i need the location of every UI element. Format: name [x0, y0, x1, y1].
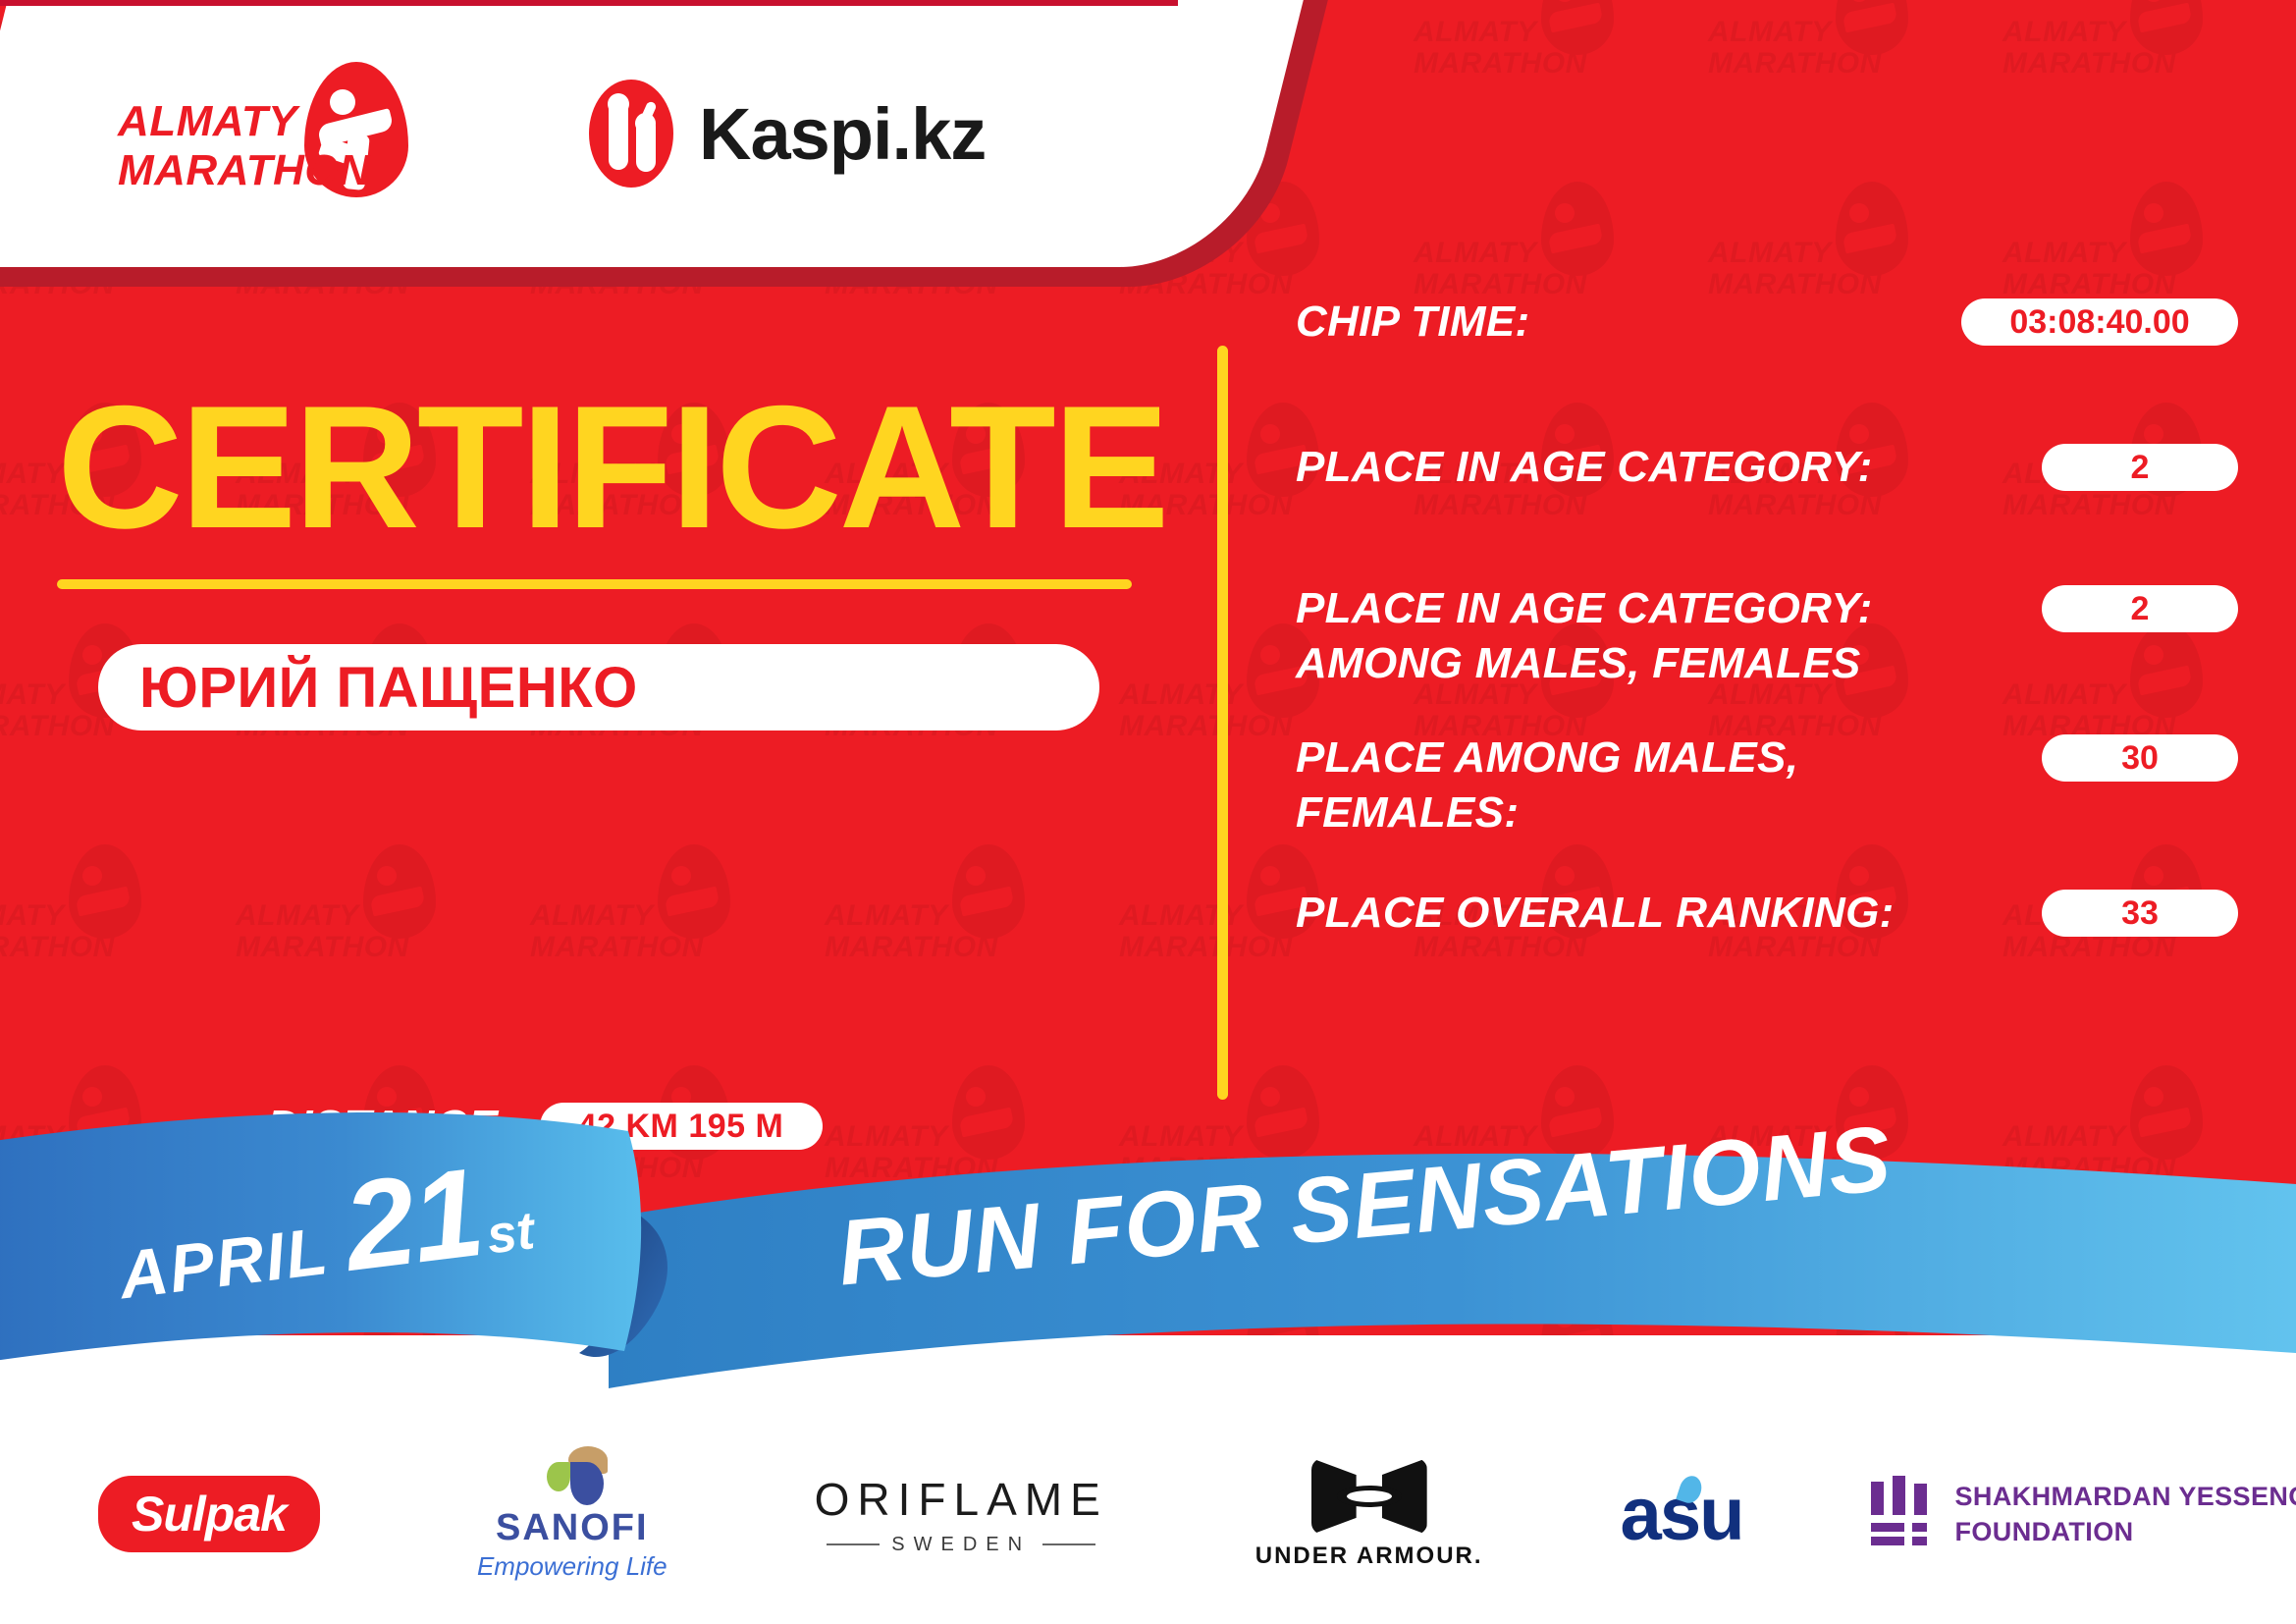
label-line-2: FEMALES: — [1296, 788, 1519, 837]
sanofi-icon — [537, 1446, 608, 1505]
under-armour-wordmark: UNDER ARMOUR. — [1255, 1543, 1483, 1570]
distance-value: 42 KM 195 M — [540, 1103, 823, 1150]
sulpak-wordmark: Sulpak — [98, 1476, 320, 1552]
place-among-gender-row: PLACE AMONG MALES, FEMALES: 30 — [1296, 731, 2238, 840]
watermark-tile: ALMATYMARATHON — [236, 1286, 442, 1335]
place-among-gender-label: PLACE AMONG MALES, FEMALES: — [1296, 731, 2042, 840]
sponsor-logo-sulpak: Sulpak — [98, 1476, 320, 1552]
oriflame-sub: SWEDEN — [827, 1534, 1095, 1556]
watermark-tile: ALMATYMARATHON — [825, 1286, 1031, 1335]
sanofi-tagline: Empowering Life — [477, 1551, 667, 1582]
sponsor-logo-oriflame: ORIFLAME SWEDEN — [815, 1473, 1108, 1556]
kaspi-people-icon — [589, 80, 673, 188]
watermark-tile: ALMATYMARATHON — [1414, 1065, 1620, 1213]
place-overall-row: PLACE OVERALL RANKING: 33 — [1296, 886, 2238, 970]
place-age-category-label: PLACE IN AGE CATEGORY: — [1296, 440, 2042, 495]
watermark-tile: ALMATYMARATHON — [2002, 1286, 2209, 1335]
title-underline — [57, 579, 1132, 589]
sponsor-logo-yessenov-foundation: SHAKHMARDAN YESSENOV FOUNDATION — [1871, 1476, 2296, 1552]
label-line-1: PLACE AMONG MALES, — [1296, 733, 1798, 782]
distance-label: DISTANCE: — [267, 1100, 514, 1153]
chip-time-value: 03:08:40.00 — [1961, 298, 2238, 346]
kaspi-logo: Kaspi.kz — [589, 80, 986, 188]
oriflame-wordmark: ORIFLAME — [815, 1473, 1108, 1526]
vertical-divider — [1217, 346, 1228, 1100]
yessenov-line-2: FOUNDATION — [1955, 1517, 2134, 1546]
under-armour-icon — [1311, 1458, 1427, 1535]
place-overall-value: 33 — [2042, 890, 2238, 937]
watermark-tile: ALMATYMARATHON — [2002, 0, 2209, 108]
oriflame-sub-text: SWEDEN — [891, 1534, 1031, 1556]
sponsor-logo-sanofi: SANOFI Empowering Life — [477, 1446, 667, 1582]
yessenov-bars-icon — [1871, 1476, 1934, 1552]
label-line-1: PLACE IN AGE CATEGORY: — [1296, 584, 1873, 632]
yessenov-wordmark: SHAKHMARDAN YESSENOV FOUNDATION — [1955, 1479, 2296, 1549]
asu-wordmark: asu — [1621, 1472, 1743, 1557]
right-column: CHIP TIME: 03:08:40.00 PLACE IN AGE CATE… — [1296, 295, 2238, 1005]
header-content: ALMATY MARATHON Kaspi.kz — [0, 0, 1178, 267]
place-among-gender-value: 30 — [2042, 734, 2238, 782]
sponsor-logo-asu: asu — [1621, 1472, 1743, 1557]
watermark-tile: ALMATYMARATHON — [1708, 1065, 1914, 1213]
finish-time-row: FINISH TIME: 03:08:47.00 — [267, 1216, 865, 1269]
watermark-tile: ALMATYMARATHON — [1414, 0, 1620, 108]
place-age-category-gender-value: 2 — [2042, 585, 2238, 632]
sponsor-logo-under-armour: UNDER ARMOUR. — [1255, 1458, 1483, 1570]
distance-row: DISTANCE: 42 KM 195 M — [267, 1100, 823, 1153]
athlete-name-field: ЮРИЙ ПАЩЕНКО — [98, 644, 1099, 731]
watermark-tile: ALMATYMARATHON — [530, 1286, 736, 1335]
watermark-tile: ALMATYMARATHON — [1414, 1286, 1620, 1335]
certificate-page: ALMATYMARATHONALMATYMARATHONALMATYMARATH… — [0, 0, 2296, 1624]
finish-time-value: 03:08:47.00 — [582, 1218, 865, 1266]
finish-time-label: FINISH TIME: — [267, 1216, 557, 1269]
chip-time-label: CHIP TIME: — [1296, 295, 1961, 350]
yessenov-line-1: SHAKHMARDAN YESSENOV — [1955, 1482, 2296, 1511]
watermark-tile: ALMATYMARATHON — [0, 1286, 147, 1335]
left-column: CERTIFICATE ЮРИЙ ПАЩЕНКО DISTANCE: 42 KM… — [0, 295, 1207, 1276]
almaty-marathon-wordmark: ALMATY MARATHON — [118, 97, 363, 195]
almaty-marathon-logo: ALMATY MARATHON — [118, 60, 442, 207]
watermark-tile: ALMATYMARATHON — [2002, 1065, 2209, 1213]
watermark-tile: ALMATYMARATHON — [1708, 1286, 1914, 1335]
sponsor-bar: Sulpak SANOFI Empowering Life ORIFLAME S… — [0, 1404, 2296, 1624]
sanofi-wordmark: SANOFI — [496, 1507, 649, 1549]
place-age-category-value: 2 — [2042, 444, 2238, 491]
logo-line-1: ALMATY — [118, 97, 363, 146]
watermark-tile: ALMATYMARATHON — [1708, 0, 1914, 108]
place-age-category-gender-label: PLACE IN AGE CATEGORY: AMONG MALES, FEMA… — [1296, 581, 2042, 691]
watermark-tile: ALMATYMARATHON — [1119, 1286, 1325, 1335]
place-age-category-row: PLACE IN AGE CATEGORY: 2 — [1296, 440, 2238, 524]
place-overall-label: PLACE OVERALL RANKING: — [1296, 886, 2042, 941]
chip-time-row: CHIP TIME: 03:08:40.00 — [1296, 295, 2238, 379]
logo-line-2: MARATHON — [118, 146, 363, 195]
label-line-2: AMONG MALES, FEMALES — [1296, 639, 1861, 687]
kaspi-wordmark: Kaspi.kz — [699, 92, 986, 176]
athlete-name-value: ЮРИЙ ПАЩЕНКО — [139, 655, 638, 721]
place-age-category-gender-row: PLACE IN AGE CATEGORY: AMONG MALES, FEMA… — [1296, 581, 2238, 691]
page-title: CERTIFICATE — [57, 379, 1167, 556]
